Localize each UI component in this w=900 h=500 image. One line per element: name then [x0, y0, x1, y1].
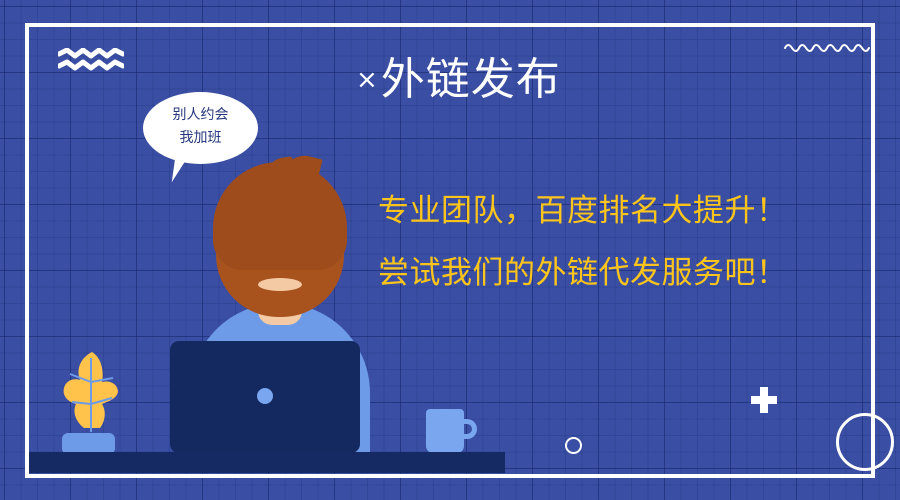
desk-surface [29, 452, 505, 473]
plant-pot [62, 433, 115, 453]
poster-banner: ×外链发布 专业团队，百度排名大提升！ 尝试我们的外链代发服务吧！ 别人约会 我… [0, 0, 900, 500]
plant-leaf-icon [58, 348, 124, 440]
person-mouth [258, 278, 302, 291]
laptop-logo-icon [257, 388, 273, 404]
